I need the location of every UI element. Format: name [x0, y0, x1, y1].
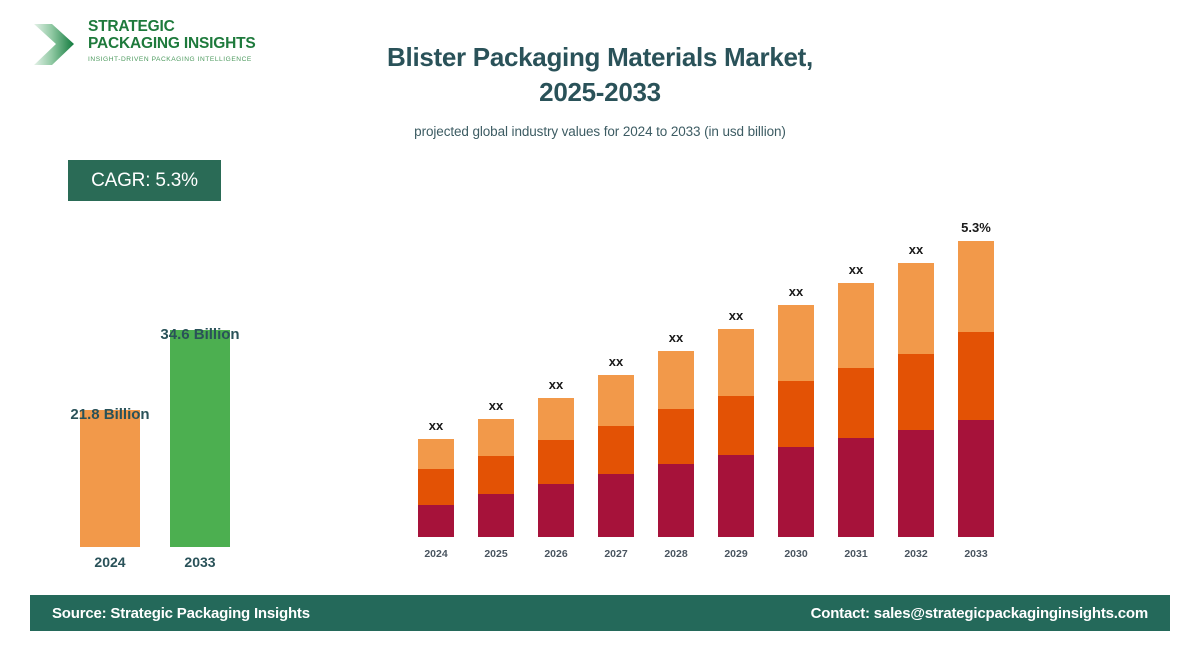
stacked-segment-segment-bottom-2026[interactable]: [538, 484, 574, 537]
stacked-segment-segment-middle-2025[interactable]: [478, 456, 514, 494]
stacked-column-2033: 5.3%2033: [958, 190, 994, 560]
footer-contact[interactable]: Contact: sales@strategicpackaginginsight…: [811, 605, 1148, 622]
stacked-segment-segment-middle-2031[interactable]: [838, 368, 874, 438]
stacked-bar-label-2025: xx: [451, 398, 541, 413]
stacked-bar-2032[interactable]: [898, 263, 934, 537]
stacked-column-2027: xx2027: [598, 190, 634, 560]
stacked-column-2025: xx2025: [478, 190, 514, 560]
stacked-column-2029: xx2029: [718, 190, 754, 560]
stacked-year-label-2027: 2027: [586, 548, 646, 560]
stacked-segment-segment-bottom-2025[interactable]: [478, 494, 514, 537]
stacked-bar-label-2029: xx: [691, 308, 781, 323]
stacked-bar-2028[interactable]: [658, 351, 694, 537]
brand-name-line2: PACKAGING INSIGHTS: [88, 35, 260, 52]
stacked-bar-2024[interactable]: [418, 439, 454, 537]
brand-name-line1: STRATEGIC: [88, 18, 260, 35]
brand-logo[interactable]: STRATEGIC PACKAGING INSIGHTS INSIGHT-DRI…: [30, 14, 260, 76]
stacked-bar-label-2024: xx: [391, 418, 481, 433]
stacked-segment-segment-bottom-2032[interactable]: [898, 430, 934, 537]
page-subtitle: projected global industry values for 202…: [250, 124, 950, 139]
stacked-column-2028: xx2028: [658, 190, 694, 560]
stacked-segment-segment-bottom-2031[interactable]: [838, 438, 874, 537]
page-title-line1: Blister Packaging Materials Market,: [387, 42, 813, 72]
stacked-segment-segment-top-2028[interactable]: [658, 351, 694, 409]
stacked-year-label-2031: 2031: [826, 548, 886, 560]
stacked-column-2031: xx2031: [838, 190, 874, 560]
comparison-year-label-2033: 2033: [170, 554, 230, 570]
stacked-segment-segment-bottom-2029[interactable]: [718, 455, 754, 537]
brand-name: STRATEGIC PACKAGING INSIGHTS INSIGHT-DRI…: [88, 18, 260, 63]
stacked-bar-2033[interactable]: [958, 241, 994, 537]
stacked-segment-segment-top-2026[interactable]: [538, 398, 574, 440]
chart-header: Blister Packaging Materials Market, 2025…: [250, 40, 950, 139]
comparison-column-2033: 2033: [170, 330, 230, 570]
cagr-badge-label: CAGR: 5.3%: [91, 170, 198, 192]
stacked-segment-segment-top-2024[interactable]: [418, 439, 454, 469]
cagr-badge: CAGR: 5.3%: [68, 160, 221, 201]
stacked-bar-2027[interactable]: [598, 375, 634, 537]
stacked-year-label-2029: 2029: [706, 548, 766, 560]
stacked-segment-segment-middle-2024[interactable]: [418, 469, 454, 505]
stacked-segment-segment-middle-2030[interactable]: [778, 381, 814, 447]
chevron-logo-icon: [30, 18, 82, 70]
stacked-segment-segment-top-2030[interactable]: [778, 305, 814, 381]
stacked-bar-label-2033: 5.3%: [931, 220, 1021, 235]
stacked-bar-label-2031: xx: [811, 262, 901, 277]
stacked-bar-2031[interactable]: [838, 283, 874, 537]
stacked-segment-segment-bottom-2027[interactable]: [598, 474, 634, 537]
stacked-segment-segment-bottom-2033[interactable]: [958, 420, 994, 537]
stacked-segment-segment-middle-2033[interactable]: [958, 332, 994, 420]
comparison-bar-2033[interactable]: [170, 330, 230, 547]
stacked-segment-segment-top-2029[interactable]: [718, 329, 754, 396]
chart-canvas: STRATEGIC PACKAGING INSIGHTS INSIGHT-DRI…: [0, 0, 1200, 650]
stacked-bar-chart: xx2024xx2025xx2026xx2027xx2028xx2029xx20…: [408, 190, 1018, 560]
stacked-year-label-2024: 2024: [406, 548, 466, 560]
comparison-year-label-2024: 2024: [80, 554, 140, 570]
stacked-segment-segment-middle-2028[interactable]: [658, 409, 694, 464]
stacked-segment-segment-bottom-2024[interactable]: [418, 505, 454, 537]
stacked-bar-label-2032: xx: [871, 242, 961, 257]
stacked-segment-segment-top-2032[interactable]: [898, 263, 934, 354]
stacked-bar-2029[interactable]: [718, 329, 754, 537]
stacked-column-2026: xx2026: [538, 190, 574, 560]
stacked-column-2024: xx2024: [418, 190, 454, 560]
stacked-year-label-2030: 2030: [766, 548, 826, 560]
stacked-segment-segment-middle-2032[interactable]: [898, 354, 934, 430]
stacked-column-2032: xx2032: [898, 190, 934, 560]
footer-bar: Source: Strategic Packaging Insights Con…: [30, 595, 1170, 631]
stacked-segment-segment-bottom-2028[interactable]: [658, 464, 694, 537]
comparison-column-2024: 2024: [80, 410, 140, 570]
stacked-bar-label-2027: xx: [571, 354, 661, 369]
stacked-segment-segment-middle-2029[interactable]: [718, 396, 754, 455]
stacked-segment-segment-top-2025[interactable]: [478, 419, 514, 456]
page-title: Blister Packaging Materials Market, 2025…: [250, 40, 950, 110]
stacked-year-label-2025: 2025: [466, 548, 526, 560]
stacked-bar-2025[interactable]: [478, 419, 514, 537]
stacked-year-label-2028: 2028: [646, 548, 706, 560]
stacked-bar-2026[interactable]: [538, 398, 574, 537]
stacked-segment-segment-top-2031[interactable]: [838, 283, 874, 368]
stacked-bar-label-2026: xx: [511, 377, 601, 392]
stacked-column-2030: xx2030: [778, 190, 814, 560]
stacked-segment-segment-top-2033[interactable]: [958, 241, 994, 332]
comparison-value-label-2033: 34.6 Billion: [110, 326, 290, 343]
stacked-segment-segment-middle-2027[interactable]: [598, 426, 634, 474]
comparison-chart: 202421.8 Billion203334.6 Billion: [40, 300, 290, 570]
page-title-line2: 2025-2033: [539, 77, 661, 107]
stacked-segment-segment-top-2027[interactable]: [598, 375, 634, 426]
stacked-bar-label-2030: xx: [751, 284, 841, 299]
comparison-bar-2024[interactable]: [80, 410, 140, 547]
brand-tagline: INSIGHT-DRIVEN PACKAGING INTELLIGENCE: [88, 56, 260, 63]
footer-source: Source: Strategic Packaging Insights: [52, 605, 310, 622]
stacked-segment-segment-middle-2026[interactable]: [538, 440, 574, 484]
stacked-year-label-2032: 2032: [886, 548, 946, 560]
stacked-year-label-2033: 2033: [946, 548, 1006, 560]
stacked-segment-segment-bottom-2030[interactable]: [778, 447, 814, 537]
stacked-bar-label-2028: xx: [631, 330, 721, 345]
stacked-year-label-2026: 2026: [526, 548, 586, 560]
stacked-bar-2030[interactable]: [778, 305, 814, 537]
